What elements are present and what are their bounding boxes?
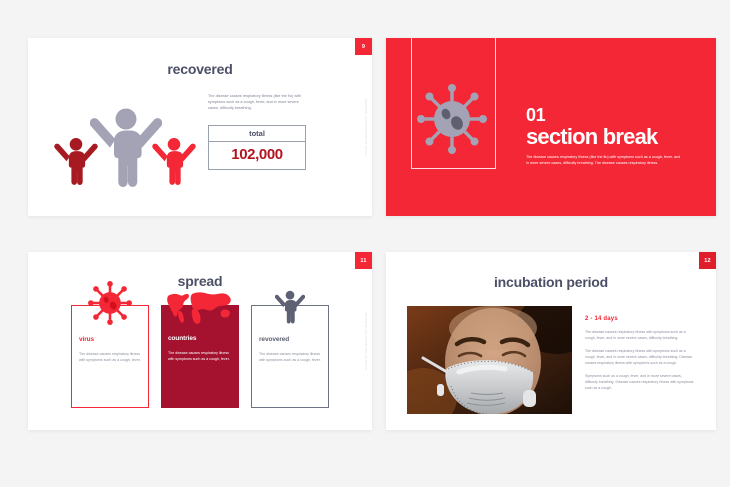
recovered-text-column: The disease causes respiratory illness (… bbox=[200, 91, 350, 170]
total-value: 102,000 bbox=[209, 142, 305, 169]
card-title: countries bbox=[168, 335, 232, 342]
side-caption: COVID-19 PRESENTATION TEMPLATE bbox=[365, 312, 368, 369]
virus-icon bbox=[72, 280, 148, 326]
card-text: The disease causes respiratory illness w… bbox=[168, 351, 232, 363]
world-map-icon bbox=[161, 279, 239, 325]
slide-section-break[interactable]: 01 section break The disease causes resp… bbox=[386, 38, 716, 216]
body-paragraph: The disease causes respiratory illness w… bbox=[585, 330, 694, 342]
slide-deck-preview: 9 COVID-19 PRESENTATION TEMPLATE recover… bbox=[0, 0, 730, 487]
incubation-body: 2 - 14 days The disease causes respirato… bbox=[386, 306, 716, 414]
page-number-badge: 11 bbox=[355, 252, 372, 269]
page-number-badge: 9 bbox=[355, 38, 372, 55]
body-paragraph: The disease causes respiratory illness (… bbox=[208, 94, 308, 112]
recovered-body: The disease causes respiratory illness (… bbox=[28, 91, 372, 191]
body-paragraph: Symptoms such as a cough, fever, and in … bbox=[585, 374, 694, 392]
person-icon bbox=[252, 280, 328, 326]
slide-spread[interactable]: 11 COVID-19 PRESENTATION TEMPLATE spread bbox=[28, 252, 372, 430]
body-paragraph: The disease causes respiratory illness w… bbox=[585, 349, 694, 367]
incubation-kicker: 2 - 14 days bbox=[585, 316, 694, 322]
spread-card-list: virus The disease causes respiratory ill… bbox=[28, 305, 372, 408]
side-caption: COVID-19 PRESENTATION TEMPLATE bbox=[365, 98, 368, 155]
card-title: virus bbox=[79, 336, 141, 343]
section-paragraph: The disease causes respiratory illness (… bbox=[526, 155, 681, 167]
virus-icon bbox=[416, 83, 488, 155]
card-virus[interactable]: virus The disease causes respiratory ill… bbox=[71, 305, 149, 408]
section-break-text: 01 section break The disease causes resp… bbox=[526, 106, 691, 167]
card-text: The disease causes respiratory illness w… bbox=[79, 352, 141, 364]
people-illustration bbox=[48, 91, 200, 191]
page-title: recovered bbox=[28, 61, 372, 77]
total-label: total bbox=[209, 126, 305, 143]
person-right-icon bbox=[152, 132, 196, 187]
section-number: 01 bbox=[526, 106, 691, 124]
card-text: The disease causes respiratory illness w… bbox=[259, 352, 321, 364]
face-mask-photo bbox=[407, 306, 572, 414]
total-box: total 102,000 bbox=[208, 125, 306, 171]
card-revovered[interactable]: revovered The disease causes respiratory… bbox=[251, 305, 329, 408]
card-countries[interactable]: countries The disease causes respiratory… bbox=[161, 305, 239, 408]
card-title: revovered bbox=[259, 336, 321, 343]
slide-recovered[interactable]: 9 COVID-19 PRESENTATION TEMPLATE recover… bbox=[28, 38, 372, 216]
page-number-badge: 12 bbox=[699, 252, 716, 269]
section-heading: section break bbox=[526, 125, 691, 148]
slide-incubation-period[interactable]: 12 incubation period bbox=[386, 252, 716, 430]
page-title: incubation period bbox=[386, 274, 716, 290]
incubation-text-column: 2 - 14 days The disease causes respirato… bbox=[585, 306, 694, 414]
